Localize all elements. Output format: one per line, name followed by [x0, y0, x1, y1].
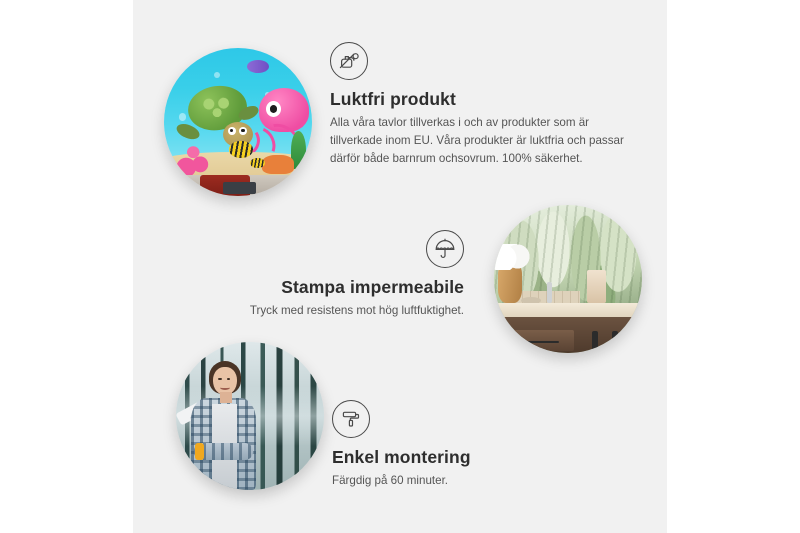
- fish-icon: [247, 60, 269, 73]
- eye: [227, 378, 230, 380]
- feature-title: Luktfri produkt: [330, 89, 632, 110]
- neck: [220, 392, 232, 402]
- paint-roller-icon: [332, 400, 370, 438]
- flowers: [494, 244, 530, 271]
- bubble-icon: [179, 113, 186, 120]
- coral-icon: [173, 137, 217, 175]
- cabinet-handle: [592, 331, 598, 350]
- bathroom-scene: [494, 205, 642, 353]
- feature-waterproof-print: Stampa impermeabile Tryck med resistens …: [210, 230, 464, 320]
- feature-body: Tryck med resistens mot hög luftfuktighe…: [210, 302, 464, 320]
- feature-title: Stampa impermeabile: [210, 277, 464, 298]
- faucet-icon: [547, 282, 551, 303]
- feature-body: Färgdig på 60 minuter.: [332, 472, 582, 490]
- fish-icon: [229, 141, 253, 157]
- smile: [220, 386, 229, 390]
- fish-icon: [250, 158, 265, 168]
- medallion-painter-forest: [176, 342, 324, 490]
- medallion-bathroom-botanical: [494, 205, 642, 353]
- no-fragrance-icon: [330, 42, 368, 80]
- room-foreground: [164, 175, 312, 196]
- drawer-handle: [515, 341, 559, 343]
- feature-easy-mounting: Enkel montering Färgdig på 60 minuter.: [332, 400, 582, 490]
- octopus-eye: [266, 101, 281, 117]
- painter-scene: [176, 342, 324, 490]
- paint-roller-grip: [195, 443, 204, 461]
- bubble-icon: [214, 72, 220, 78]
- cabinet-handle: [612, 331, 618, 350]
- promo-graphic: Luktfri produkt Alla våra tavlor tillver…: [0, 0, 800, 533]
- medallion-ocean-mural: [164, 48, 312, 196]
- soap-dispenser: [587, 270, 606, 303]
- face: [213, 367, 237, 395]
- feature-title: Enkel montering: [332, 447, 582, 468]
- vanity-cabinet: [494, 317, 642, 353]
- feature-odor-free: Luktfri produkt Alla våra tavlor tillver…: [330, 42, 632, 168]
- umbrella-icon: [426, 230, 464, 268]
- starfish-icon: [262, 155, 295, 174]
- feature-body: Alla våra tavlor tillverkas i och av pro…: [330, 114, 632, 168]
- ocean-scene: [164, 48, 312, 196]
- eye: [218, 378, 221, 380]
